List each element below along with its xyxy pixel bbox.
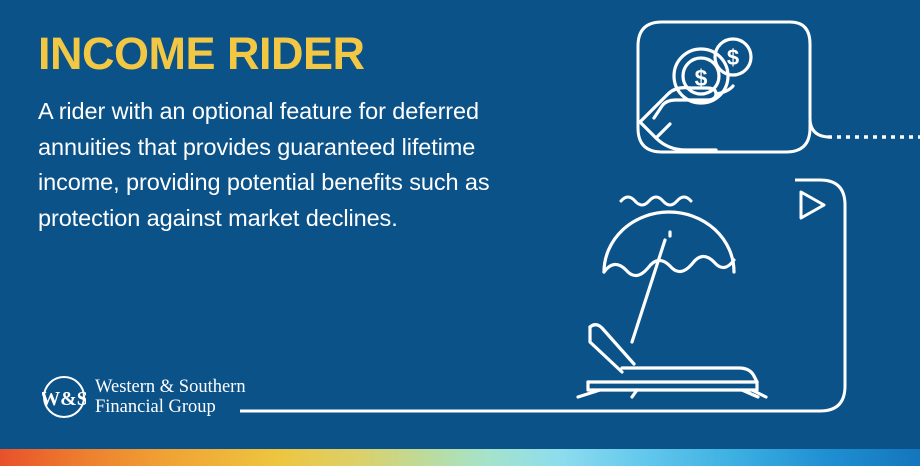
chair-leg-left	[578, 390, 600, 397]
ws-monogram-text: W&S	[42, 388, 86, 410]
umbrella-pole	[632, 240, 665, 342]
chair-leg-right-2	[752, 390, 766, 397]
logo-line-1: Western & Southern	[95, 377, 246, 398]
page-title: INCOME RIDER	[38, 28, 508, 80]
coin-small	[715, 39, 751, 75]
text-block: INCOME RIDER A rider with an optional fe…	[38, 28, 508, 236]
coin-large-outer	[674, 49, 728, 103]
coin-small-dollar-sign: $	[727, 45, 739, 70]
chair-backrest-edge	[590, 327, 622, 372]
hand-holding-dollar-coins-icon: $ $	[640, 39, 751, 150]
chair-seat-top	[622, 368, 757, 382]
hand-thumb-side	[654, 100, 676, 118]
beach-umbrella-lounge-chair-icon	[576, 212, 766, 397]
hand-wrist	[656, 138, 716, 150]
coin-large-dollar-sign: $	[695, 65, 708, 91]
frame-exit-curve	[790, 22, 830, 137]
hand-finger-tip	[716, 86, 733, 94]
chair-leg-mid	[632, 390, 637, 397]
umbrella-scallops	[604, 256, 734, 275]
umbrella-canopy	[604, 212, 734, 272]
brand-logo[interactable]: W&S Western & Southern Financial Group	[42, 375, 246, 419]
wavy-lines-icon	[621, 197, 691, 205]
ws-monogram-icon: W&S	[42, 375, 86, 419]
hand-cuff	[640, 108, 670, 138]
hand-fingers	[676, 88, 716, 100]
chair-seat-rail	[588, 382, 757, 390]
coin-large-inner	[683, 58, 719, 94]
bottom-gradient-bar	[0, 449, 920, 466]
body-copy: A rider with an optional feature for def…	[38, 94, 508, 236]
rounded-rectangle-frame	[638, 22, 810, 152]
income-rider-card: $ $	[0, 0, 920, 466]
chair-leg-right	[742, 390, 758, 397]
hand-palm-top	[654, 88, 690, 108]
logo-line-2: Financial Group	[95, 397, 246, 418]
logo-wordmark: Western & Southern Financial Group	[95, 377, 246, 418]
play-triangle-icon[interactable]	[801, 192, 824, 218]
chair-backrest-top	[590, 325, 634, 364]
